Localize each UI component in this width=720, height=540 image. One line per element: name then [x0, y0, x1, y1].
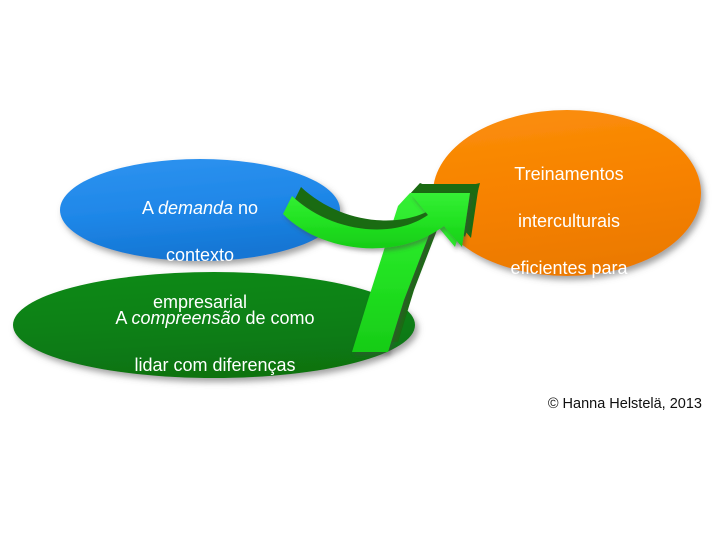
slide-canvas: A demanda no contexto empresarial A comp… — [0, 0, 720, 540]
diagram-graphics — [0, 0, 720, 540]
ellipse-understanding[interactable] — [13, 272, 415, 378]
copyright-notice: © Hanna Helstelä, 2013 — [548, 396, 702, 412]
